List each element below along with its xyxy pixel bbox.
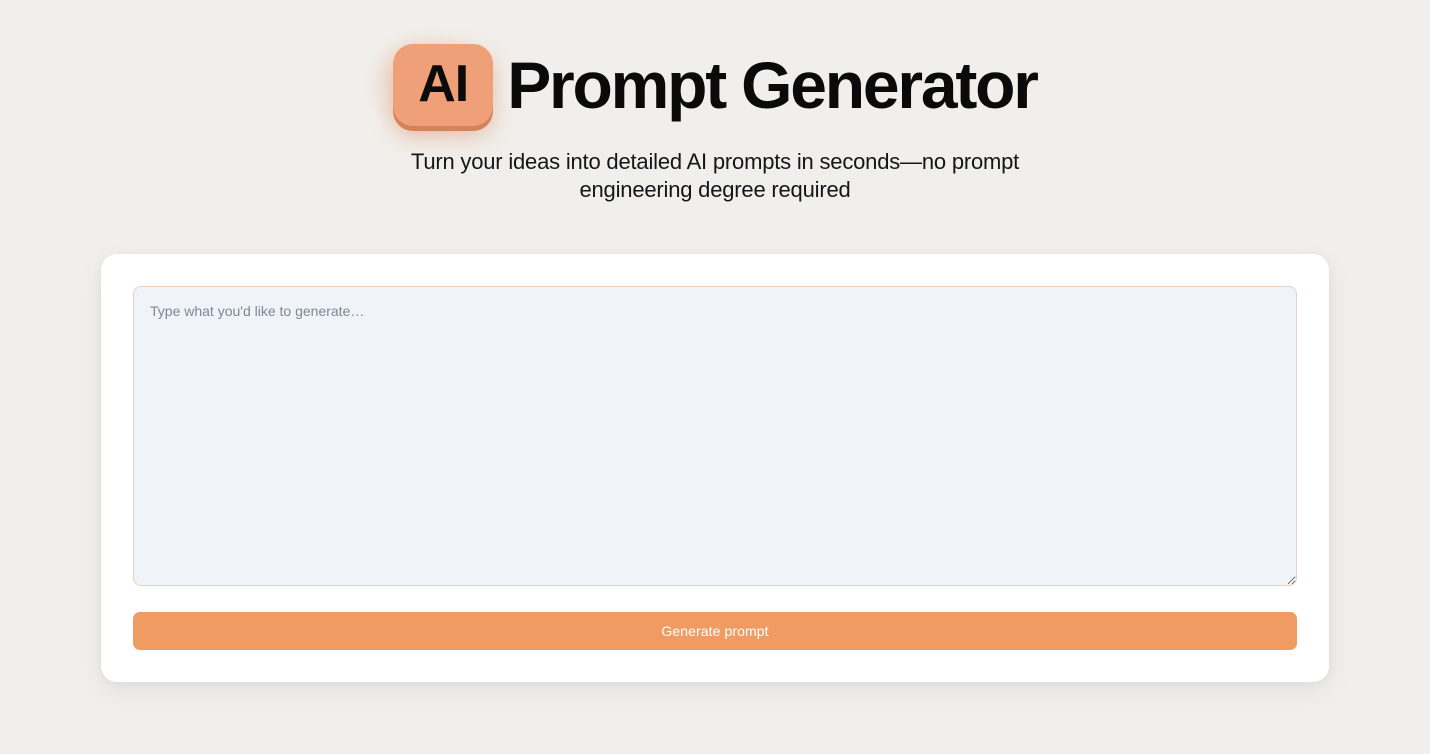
page-title: AI Prompt Generator (0, 44, 1430, 126)
app-root: AI Prompt Generator Turn your ideas into… (0, 0, 1430, 754)
page-title-text: Prompt Generator (507, 52, 1037, 118)
generate-prompt-button[interactable]: Generate prompt (133, 612, 1297, 650)
ai-logo-badge: AI (393, 44, 493, 126)
page-header: AI Prompt Generator Turn your ideas into… (0, 0, 1430, 204)
prompt-card: Generate prompt (101, 254, 1329, 682)
ai-badge-label: AI (418, 58, 468, 110)
page-subtitle: Turn your ideas into detailed AI prompts… (360, 148, 1070, 204)
prompt-input[interactable] (133, 286, 1297, 586)
